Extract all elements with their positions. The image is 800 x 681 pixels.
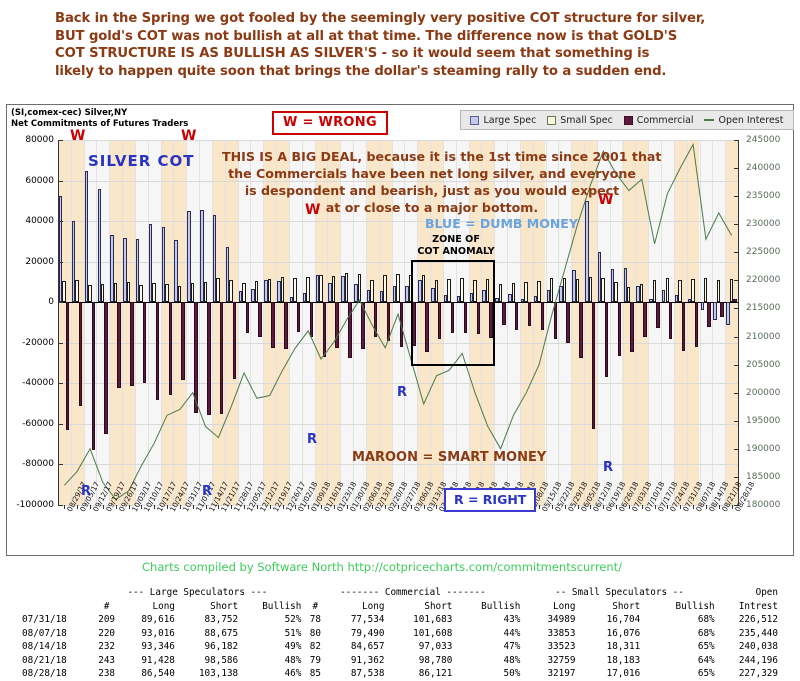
x-tick	[167, 505, 168, 509]
y-tick-left	[58, 343, 63, 344]
x-tick	[90, 505, 91, 509]
cell-ss-bull: 68%	[642, 613, 716, 627]
cell-cm-short: 101,608	[386, 627, 454, 641]
col-ss-long: Long	[522, 600, 577, 614]
zone-line-1: ZONE OF	[408, 234, 504, 246]
cell-cm-short: 86,121	[386, 667, 454, 681]
cell-date: 08/21/18	[20, 654, 91, 668]
y-tick-right	[734, 224, 739, 225]
legend-item-open-interest: Open Interest	[704, 115, 783, 126]
marker-r-5: R	[603, 460, 613, 475]
marker-w-1: W	[70, 128, 85, 144]
x-tick	[398, 505, 399, 509]
cell-ls-n: 243	[91, 654, 121, 668]
cell-ls-n: 209	[91, 613, 121, 627]
cell-ls-bull: 48%	[240, 654, 303, 668]
x-tick	[616, 505, 617, 509]
cell-ls-bull: 51%	[240, 627, 303, 641]
y-tick-left	[58, 221, 63, 222]
annotation-maroon-smart-money: MAROON = SMART MONEY	[352, 450, 546, 465]
x-tick	[77, 505, 78, 509]
y-tick-label-right: 200000	[746, 388, 780, 398]
col-ls-count: #	[91, 600, 121, 614]
cell-ss-short: 18,311	[577, 640, 642, 654]
cell-ss-short: 16,076	[577, 627, 642, 641]
x-tick	[116, 505, 117, 509]
y-tick-label-left: 20000	[8, 257, 54, 267]
legend-label-open-interest: Open Interest	[718, 115, 783, 126]
headline-commentary: Back in the Spring we got fooled by the …	[55, 10, 755, 80]
cell-cm-short: 101,683	[386, 613, 454, 627]
cell-ls-long: 93,016	[122, 627, 177, 641]
x-tick	[552, 505, 553, 509]
cell-ss-short: 18,183	[577, 654, 642, 668]
y-tick-label-right: 190000	[746, 444, 780, 454]
annotation-blue-dumb-money: BLUE = DUMB MONEY	[425, 216, 578, 231]
y-tick-label-left: 0	[8, 297, 54, 307]
headline-line-2: BUT gold's COT was not bullish at all at…	[55, 28, 755, 46]
cell-cm-long: 84,657	[327, 640, 386, 654]
table-row: 08/28/1823886,540103,13846%8587,53886,12…	[20, 667, 780, 681]
x-tick	[385, 505, 386, 509]
y-tick-right	[734, 308, 739, 309]
right-legend-badge: R = RIGHT	[444, 488, 536, 512]
y-tick-right	[734, 337, 739, 338]
cell-ss-long: 33523	[522, 640, 577, 654]
col-cm-bullish: Bullish	[454, 600, 522, 614]
marker-w-3: W	[305, 202, 320, 218]
cell-ls-n: 220	[91, 627, 121, 641]
col-ls-short: Short	[177, 600, 240, 614]
small-spec-swatch-icon	[547, 116, 556, 125]
x-tick	[642, 505, 643, 509]
cell-ss-long: 32197	[522, 667, 577, 681]
x-tick	[436, 505, 437, 509]
group-blank	[20, 586, 91, 600]
group-commercial: ------- Commercial -------	[303, 586, 522, 600]
x-tick	[218, 505, 219, 509]
annotation-big-deal: THIS IS A BIG DEAL, because it is the 1s…	[222, 148, 642, 216]
cell-ls-n: 238	[91, 667, 121, 681]
cell-ss-bull: 68%	[642, 627, 716, 641]
y-tick-right	[734, 168, 739, 169]
headline-line-4: likely to happen quite soon that brings …	[55, 63, 755, 81]
y-tick-label-right: 205000	[746, 360, 780, 370]
cell-cm-bull: 47%	[454, 640, 522, 654]
cell-cm-bull: 48%	[454, 654, 522, 668]
cell-ss-long: 34989	[522, 613, 577, 627]
legend-label-small-spec: Small Spec	[560, 115, 613, 126]
col-ls-bullish: Bullish	[240, 600, 303, 614]
col-cm-count: #	[303, 600, 327, 614]
cell-ss-bull: 64%	[642, 654, 716, 668]
table-body: 07/31/1820989,61683,75252%7877,534101,68…	[20, 613, 780, 681]
y-tick-label-right: 230000	[746, 219, 780, 229]
y-tick-right	[734, 449, 739, 450]
cell-cm-long: 79,490	[327, 627, 386, 641]
y-tick-left	[58, 424, 63, 425]
x-tick	[719, 505, 720, 509]
cell-ls-short: 83,752	[177, 613, 240, 627]
cell-ss-short: 16,704	[577, 613, 642, 627]
table-group-header-row: --- Large Speculators --- ------- Commer…	[20, 586, 780, 600]
cell-oi: 227,329	[717, 667, 780, 681]
col-cm-short: Short	[386, 600, 454, 614]
big-deal-line-3: is despondent and bearish, just as you w…	[222, 182, 642, 199]
y-tick-label-left: -60000	[8, 419, 54, 429]
cell-cm-n: 80	[303, 627, 327, 641]
cell-ls-short: 88,675	[177, 627, 240, 641]
cell-date: 07/31/18	[20, 613, 91, 627]
y-tick-label-right: 210000	[746, 332, 780, 342]
legend-label-large-spec: Large Spec	[483, 115, 536, 126]
x-tick	[295, 505, 296, 509]
credit-line: Charts compiled by Software North http:/…	[142, 560, 622, 574]
cell-ls-long: 93,346	[122, 640, 177, 654]
cot-data-table: --- Large Speculators --- ------- Commer…	[20, 586, 780, 681]
cell-ls-bull: 49%	[240, 640, 303, 654]
cell-oi: 235,440	[717, 627, 780, 641]
chart-title-line-2: Net Commitments of Futures Traders	[11, 119, 188, 130]
group-small-speculators: -- Small Speculators --	[522, 586, 716, 600]
y-tick-label-right: 245000	[746, 135, 780, 145]
cell-ls-n: 232	[91, 640, 121, 654]
x-tick	[539, 505, 540, 509]
cell-oi: 240,038	[717, 640, 780, 654]
col-cm-long: Long	[327, 600, 386, 614]
y-tick-left	[58, 181, 63, 182]
x-tick	[308, 505, 309, 509]
x-tick	[565, 505, 566, 509]
legend-item-commercial: Commercial	[624, 115, 694, 126]
annotation-silver-cot: SILVER COT	[88, 152, 195, 170]
cell-ls-bull: 52%	[240, 613, 303, 627]
large-spec-swatch-icon	[470, 116, 479, 125]
y-tick-left	[58, 464, 63, 465]
x-tick	[129, 505, 130, 509]
col-ls-long: Long	[122, 600, 177, 614]
cell-ss-bull: 65%	[642, 640, 716, 654]
y-tick-right	[734, 365, 739, 366]
x-tick	[321, 505, 322, 509]
cell-cm-n: 79	[303, 654, 327, 668]
x-tick	[693, 505, 694, 509]
cell-oi: 244,196	[717, 654, 780, 668]
y-tick-label-right: 180000	[746, 500, 780, 510]
cell-ls-short: 98,586	[177, 654, 240, 668]
x-tick	[706, 505, 707, 509]
cell-date: 08/07/18	[20, 627, 91, 641]
y-tick-label-left: 60000	[8, 176, 54, 186]
cell-cm-bull: 43%	[454, 613, 522, 627]
x-tick	[347, 505, 348, 509]
cell-ls-long: 91,428	[122, 654, 177, 668]
y-tick-left	[58, 505, 63, 506]
x-tick	[411, 505, 412, 509]
x-tick	[193, 505, 194, 509]
y-tick-label-right: 220000	[746, 275, 780, 285]
group-open: Open	[717, 586, 780, 600]
col-open-interest: Intrest	[717, 600, 780, 614]
y-tick-left	[58, 262, 63, 263]
y-axis-right	[738, 140, 739, 505]
y-tick-right	[734, 196, 739, 197]
cell-cm-bull: 50%	[454, 667, 522, 681]
y-tick-label-left: 80000	[8, 135, 54, 145]
x-tick	[680, 505, 681, 509]
headline-line-1: Back in the Spring we got fooled by the …	[55, 10, 755, 28]
cell-cm-long: 87,538	[327, 667, 386, 681]
commercial-swatch-icon	[624, 116, 633, 125]
cot-table: --- Large Speculators --- ------- Commer…	[20, 586, 780, 681]
y-tick-left	[58, 302, 63, 303]
y-tick-label-left: -80000	[8, 459, 54, 469]
x-tick	[103, 505, 104, 509]
x-tick	[603, 505, 604, 509]
wrong-legend-badge: W = WRONG	[272, 111, 388, 135]
chart-page: Back in the Spring we got fooled by the …	[0, 0, 800, 675]
y-tick-right	[734, 393, 739, 394]
y-tick-left	[58, 140, 63, 141]
cell-ls-bull: 46%	[240, 667, 303, 681]
cell-ls-short: 103,138	[177, 667, 240, 681]
marker-r-4: R	[397, 385, 407, 400]
x-tick	[154, 505, 155, 509]
zone-line-2: COT ANOMALY	[408, 246, 504, 258]
open-interest-line-icon	[704, 119, 714, 121]
table-row: 08/21/1824391,42898,58648%7991,36298,780…	[20, 654, 780, 668]
big-deal-line-1: THIS IS A BIG DEAL, because it is the 1s…	[222, 148, 642, 165]
annotation-zone-of-cot-anomaly: ZONE OF COT ANOMALY	[408, 234, 504, 257]
x-tick	[629, 505, 630, 509]
x-tick	[334, 505, 335, 509]
y-tick-label-right: 240000	[746, 163, 780, 173]
x-tick	[283, 505, 284, 509]
table-row: 08/14/1823293,34696,18249%8284,65797,033…	[20, 640, 780, 654]
x-tick	[360, 505, 361, 509]
cell-ls-long: 89,616	[122, 613, 177, 627]
cell-date: 08/14/18	[20, 640, 91, 654]
x-tick	[257, 505, 258, 509]
x-tick	[244, 505, 245, 509]
x-tick	[141, 505, 142, 509]
chart-title: (SI,comex-cec) Silver,NY Net Commitments…	[11, 108, 188, 129]
chart-title-line-1: (SI,comex-cec) Silver,NY	[11, 108, 188, 119]
x-tick	[732, 505, 733, 509]
y-tick-label-left: -100000	[8, 500, 54, 510]
cell-ls-long: 86,540	[122, 667, 177, 681]
x-tick	[270, 505, 271, 509]
zone-of-cot-anomaly-rect	[411, 260, 495, 366]
x-tick	[180, 505, 181, 509]
group-large-speculators: --- Large Speculators ---	[91, 586, 303, 600]
big-deal-line-2: the Commercials have been net long silve…	[222, 165, 642, 182]
table-column-header-row: # Long Short Bullish # Long Short Bullis…	[20, 600, 780, 614]
cell-cm-n: 78	[303, 613, 327, 627]
y-tick-right	[734, 280, 739, 281]
marker-r-1: R	[81, 484, 91, 499]
marker-w-2: W	[181, 128, 196, 144]
x-tick	[667, 505, 668, 509]
y-tick-right	[734, 421, 739, 422]
table-row: 07/31/1820989,61683,75252%7877,534101,68…	[20, 613, 780, 627]
marker-r-3: R	[307, 432, 317, 447]
y-tick-left	[58, 383, 63, 384]
y-tick-right	[734, 140, 739, 141]
cell-cm-long: 91,362	[327, 654, 386, 668]
table-row: 08/07/1822093,01688,67551%8079,490101,60…	[20, 627, 780, 641]
y-tick-right	[734, 477, 739, 478]
cell-ls-short: 96,182	[177, 640, 240, 654]
y-tick-right	[734, 252, 739, 253]
col-ss-short: Short	[577, 600, 642, 614]
cell-oi: 226,512	[717, 613, 780, 627]
x-tick	[64, 505, 65, 509]
marker-r-2: R	[202, 484, 212, 499]
cell-date: 08/28/18	[20, 667, 91, 681]
y-tick-label-left: 40000	[8, 216, 54, 226]
y-tick-label-left: -20000	[8, 338, 54, 348]
x-tick	[424, 505, 425, 509]
cell-ss-short: 17,016	[577, 667, 642, 681]
cell-ss-long: 32759	[522, 654, 577, 668]
x-tick	[590, 505, 591, 509]
x-tick	[231, 505, 232, 509]
big-deal-line-4: at or close to a major bottom.	[222, 199, 642, 216]
legend-item-large-spec: Large Spec	[470, 115, 536, 126]
legend-label-commercial: Commercial	[637, 115, 694, 126]
cell-cm-n: 82	[303, 640, 327, 654]
y-tick-label-right: 225000	[746, 247, 780, 257]
cell-cm-short: 98,780	[386, 654, 454, 668]
y-tick-label-right: 215000	[746, 303, 780, 313]
marker-w-4: W	[598, 192, 613, 208]
headline-line-3: COT STRUCTURE IS AS BULLISH AS SILVER'S …	[55, 45, 755, 63]
cell-ss-long: 33853	[522, 627, 577, 641]
y-tick-label-right: 235000	[746, 191, 780, 201]
col-ss-bullish: Bullish	[642, 600, 716, 614]
chart-legend: Large Spec Small Spec Commercial Open In…	[460, 110, 794, 130]
cell-ss-bull: 65%	[642, 667, 716, 681]
x-tick	[578, 505, 579, 509]
x-tick	[655, 505, 656, 509]
legend-item-small-spec: Small Spec	[547, 115, 613, 126]
cell-cm-long: 77,534	[327, 613, 386, 627]
col-date	[20, 600, 91, 614]
cell-cm-short: 97,033	[386, 640, 454, 654]
cell-cm-bull: 44%	[454, 627, 522, 641]
cell-cm-n: 85	[303, 667, 327, 681]
x-tick	[206, 505, 207, 509]
y-tick-label-right: 195000	[746, 416, 780, 426]
y-axis-left	[58, 140, 59, 505]
y-tick-label-left: -40000	[8, 378, 54, 388]
x-tick	[372, 505, 373, 509]
